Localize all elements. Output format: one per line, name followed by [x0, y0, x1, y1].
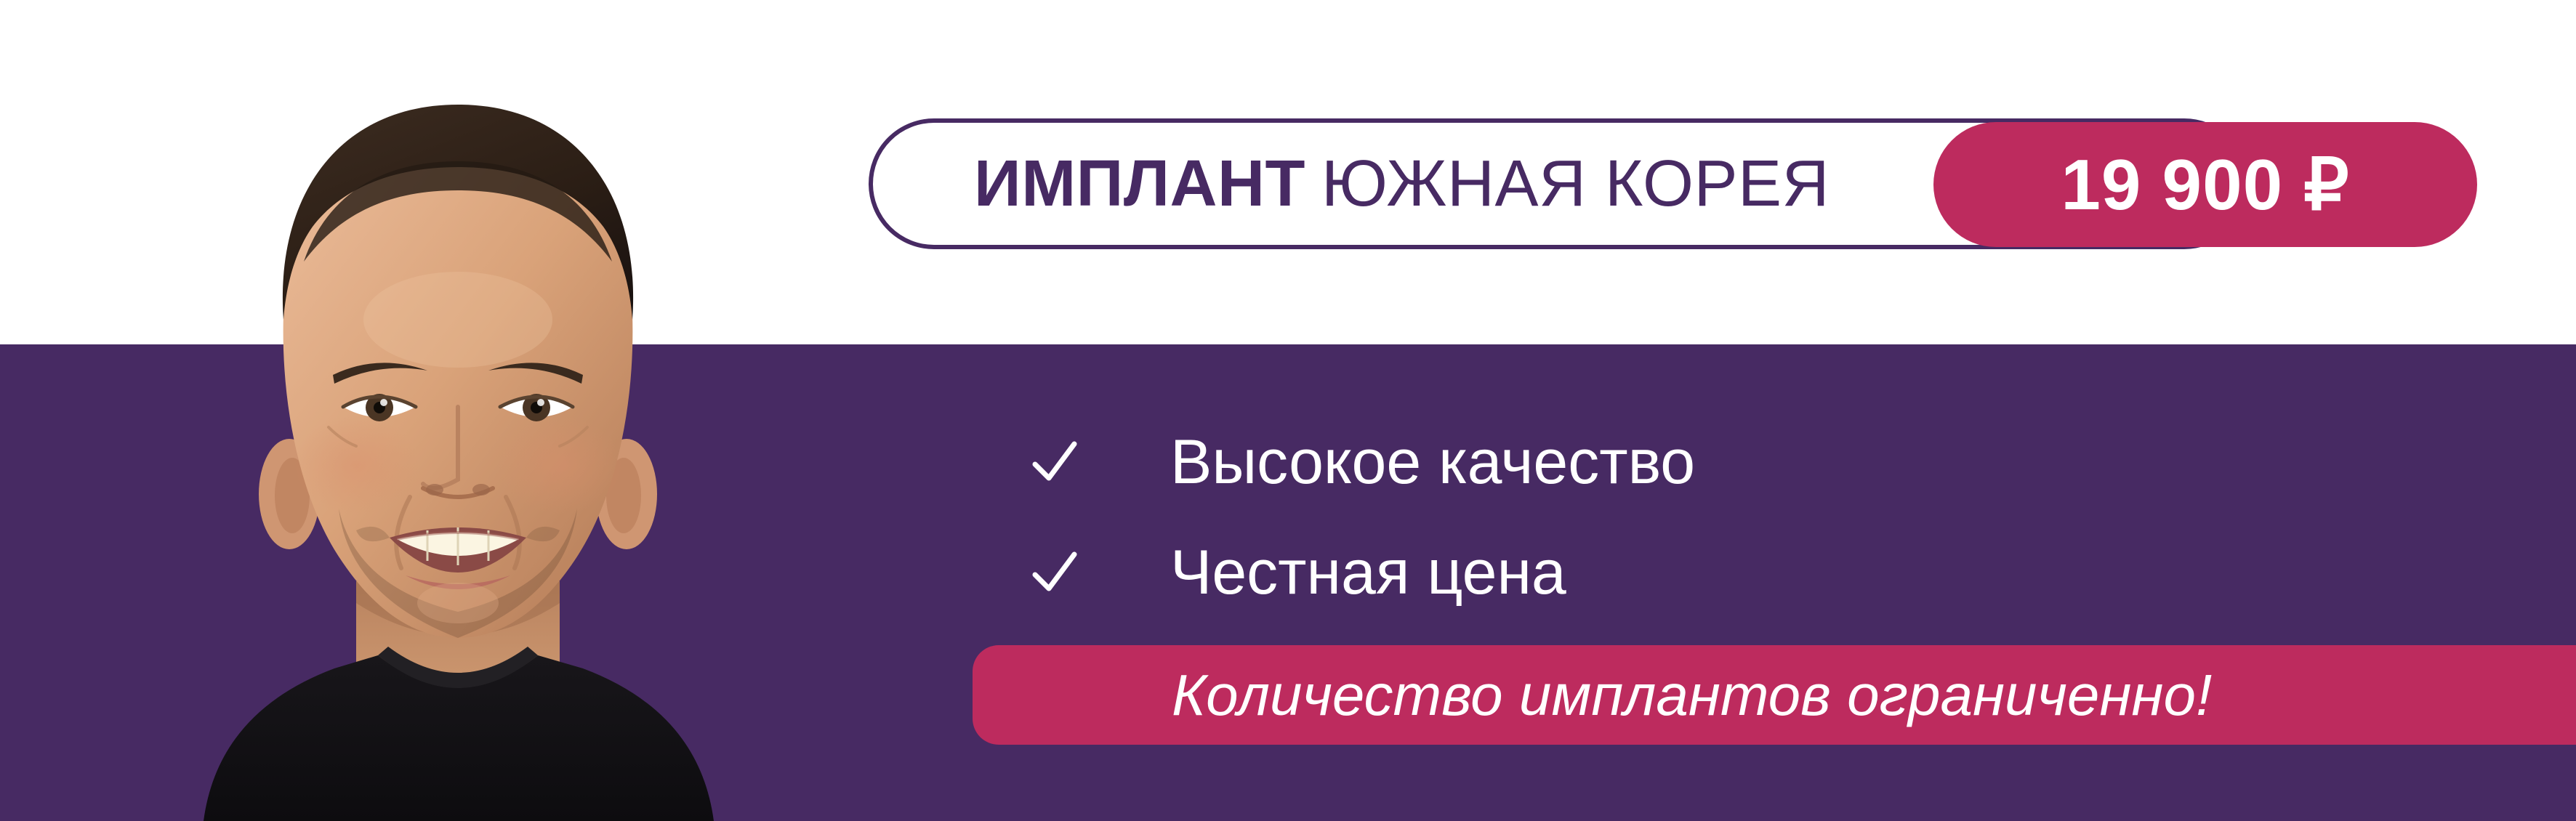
headline: ИМПЛАНТ ЮЖНАЯ КОРЕЯ — [974, 118, 1830, 249]
check-icon — [1032, 550, 1077, 595]
feature-label: Высокое качество — [1170, 431, 1695, 493]
headline-strong: ИМПЛАНТ — [974, 151, 1305, 217]
limited-quantity-notice: Количество имплантов ограниченно! — [973, 645, 2576, 745]
price-badge[interactable]: 19 900 ₽ — [1933, 122, 2477, 247]
list-item: Честная цена — [1032, 517, 2050, 628]
list-item: Высокое качество — [1032, 407, 2050, 517]
portrait-photo — [138, 29, 778, 821]
price-value: 19 900 ₽ — [2061, 149, 2349, 220]
feature-list: Высокое качество Честная цена — [1032, 407, 2050, 628]
headline-regular: ЮЖНАЯ КОРЕЯ — [1321, 151, 1830, 217]
promo-banner: ИМПЛАНТ ЮЖНАЯ КОРЕЯ 19 900 ₽ Высокое кач… — [0, 0, 2576, 821]
check-icon — [1032, 440, 1077, 485]
feature-label: Честная цена — [1170, 541, 1566, 604]
notice-text: Количество имплантов ограниченно! — [1172, 666, 2212, 724]
